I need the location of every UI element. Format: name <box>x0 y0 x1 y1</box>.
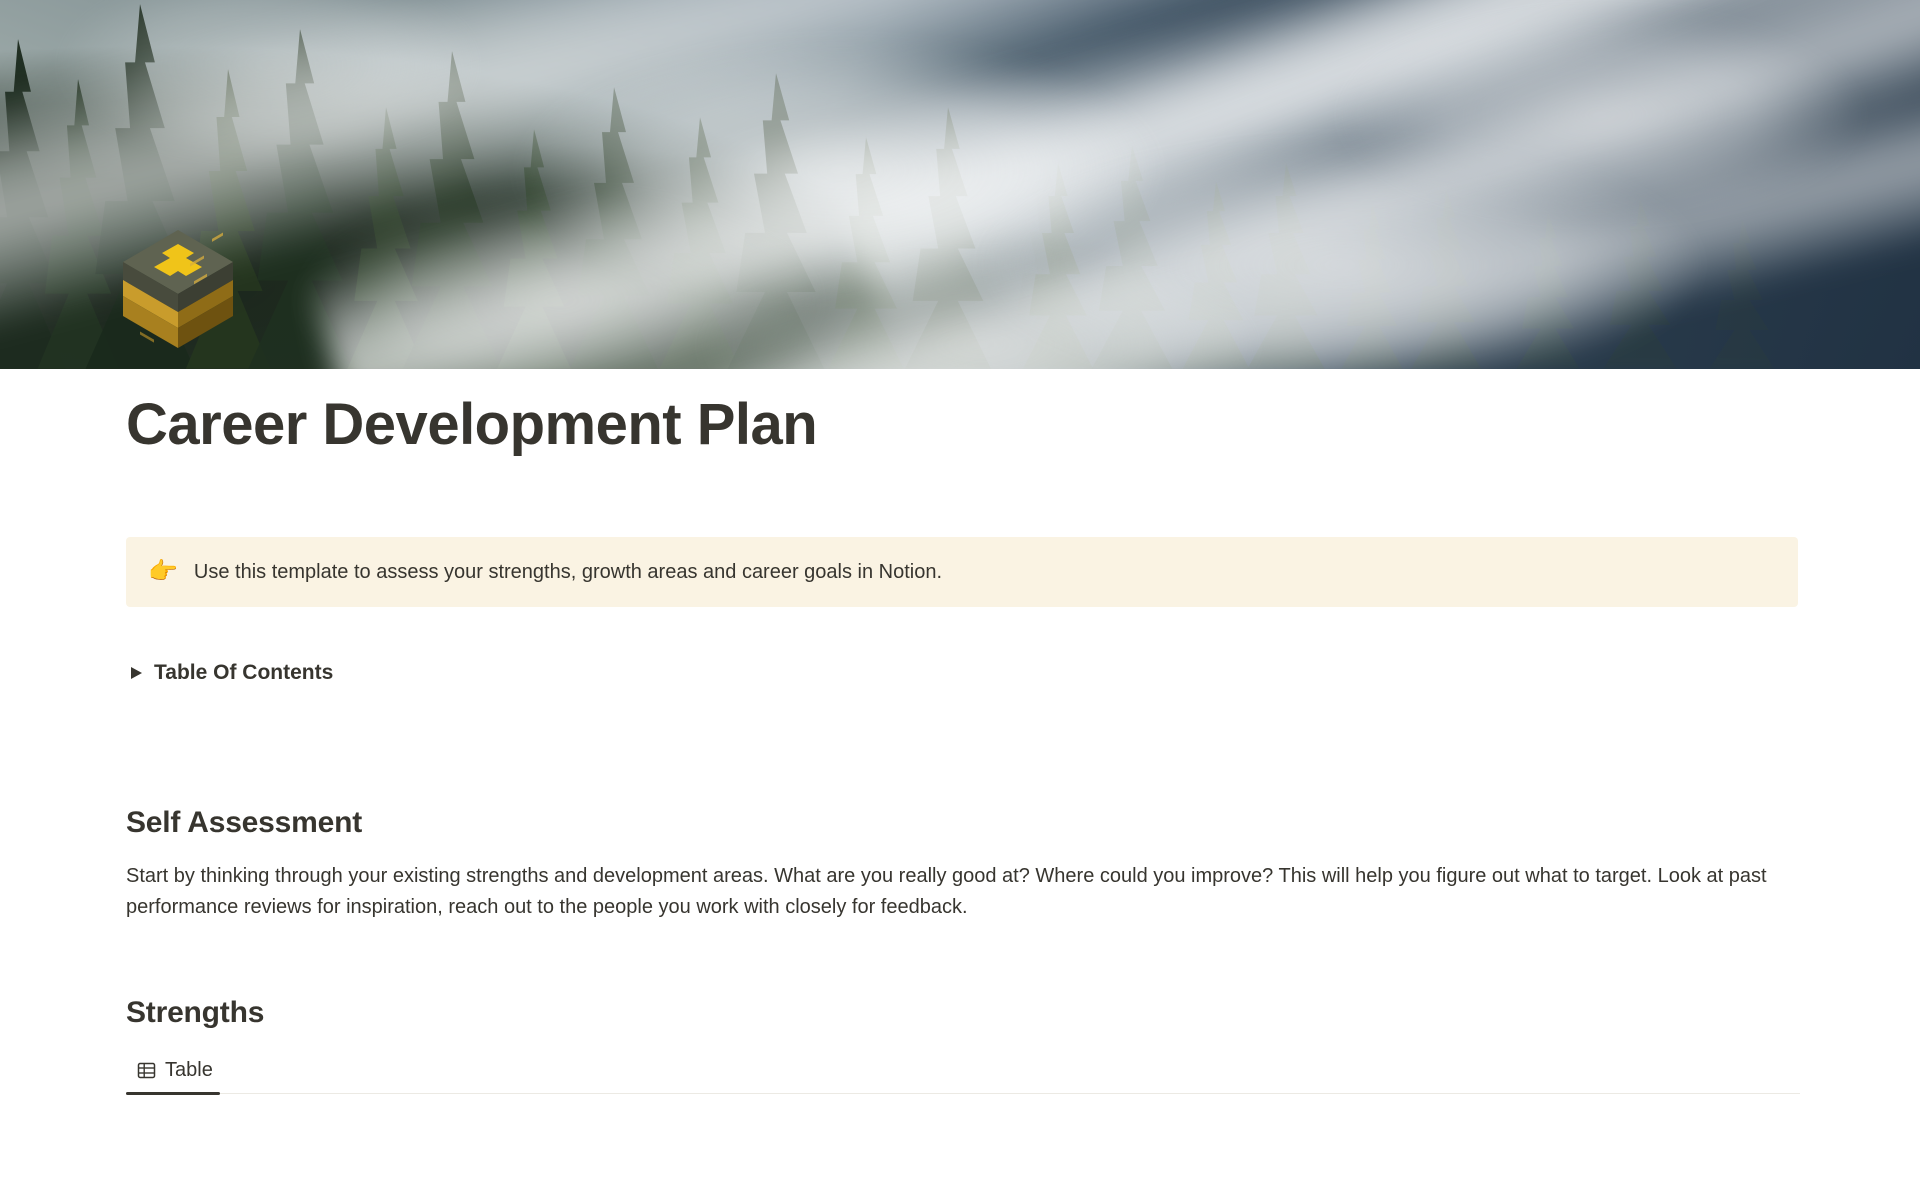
database-view-bar: Table <box>126 1051 1800 1095</box>
page-icon[interactable] <box>120 224 236 350</box>
active-tab-underline <box>126 1092 220 1095</box>
yellow-x-box-icon <box>120 224 236 350</box>
notion-page: Career Development Plan 👉 Use this templ… <box>0 0 1920 1199</box>
toggle-label: Table Of Contents <box>154 659 333 687</box>
cover-image[interactable] <box>0 0 1920 369</box>
self-assessment-paragraph[interactable]: Start by thinking through your existing … <box>126 861 1808 923</box>
heading-strengths[interactable]: Strengths <box>126 994 264 1032</box>
table-of-contents-toggle[interactable]: Table Of Contents <box>126 656 333 690</box>
view-bar-divider <box>126 1093 1800 1094</box>
triangle-right-icon[interactable] <box>126 663 146 683</box>
table-grid-icon <box>136 1060 156 1080</box>
pointing-right-hand-emoji: 👉 <box>148 560 178 584</box>
tab-table-label: Table <box>165 1057 213 1083</box>
callout-text: Use this template to assess your strengt… <box>194 558 942 586</box>
heading-self-assessment[interactable]: Self Assessment <box>126 804 362 842</box>
page-title[interactable]: Career Development Plan <box>126 391 817 459</box>
callout-block[interactable]: 👉 Use this template to assess your stren… <box>126 537 1798 607</box>
tab-table[interactable]: Table <box>126 1051 223 1089</box>
